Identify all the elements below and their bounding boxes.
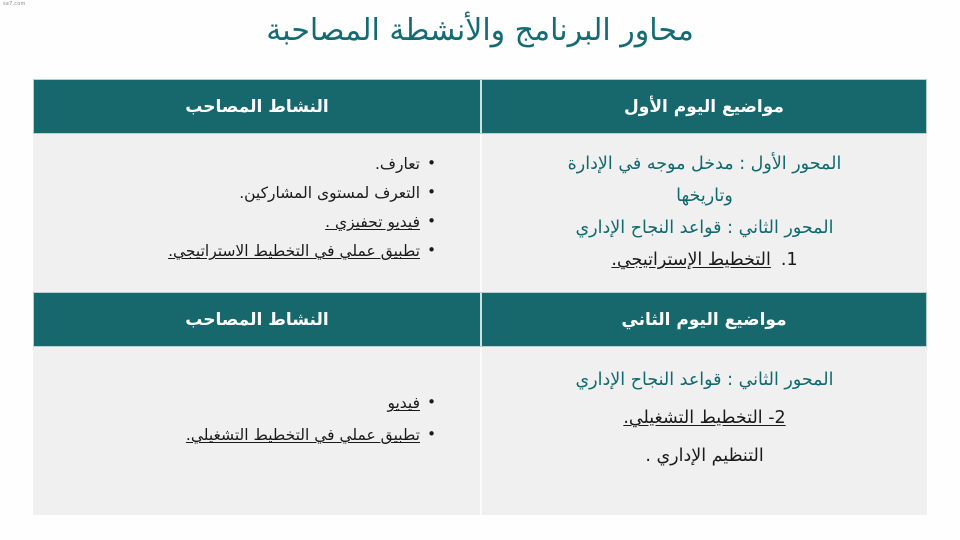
body-cell-topics-day-one: المحور الأول : مدخل موجه في الإدارة وتار… (480, 134, 927, 292)
activity-list-day-one: تعارف. التعرف لمستوى المشاركين. فيديو تح… (51, 148, 462, 266)
header-cell-activity-day-one: النشاط المصاحب (34, 80, 480, 133)
topic-line: 2- التخطيط التشغيلي. (500, 399, 909, 437)
topic-line: المحور الأول : مدخل موجه في الإدارة (500, 148, 909, 180)
activity-text: تطبيق عملي في التخطيط التشغيلي. (186, 419, 420, 451)
page-title: محاور البرنامج والأنشطة المصاحبة (0, 10, 960, 52)
table-day-two: مواضيع اليوم الثاني النشاط المصاحب المحو… (33, 292, 927, 515)
body-cell-activity-day-one: تعارف. التعرف لمستوى المشاركين. فيديو تح… (33, 134, 480, 292)
list-item: فيديو (51, 387, 436, 419)
table-body-row: المحور الأول : مدخل موجه في الإدارة وتار… (33, 134, 927, 292)
list-item: التعرف لمستوى المشاركين. (51, 179, 436, 208)
topic-line: المحور الثاني : قواعد النجاح الإداري (500, 212, 909, 244)
list-item: فيديو تحفيزي . (51, 208, 436, 237)
topic-line-numbered: 1.التخطيط الإستراتيجي. (500, 244, 909, 276)
topic-line: وتاريخها (500, 180, 909, 212)
header-cell-topics-day-one: مواضيع اليوم الأول (480, 80, 926, 133)
activity-text: فيديو تحفيزي . (325, 208, 420, 237)
header-cell-topics-day-two: مواضيع اليوم الثاني (480, 293, 926, 346)
topic-line-text: 2- التخطيط التشغيلي. (623, 408, 785, 428)
list-item: تعارف. (51, 150, 436, 179)
header-cell-activity-day-two: النشاط المصاحب (34, 293, 480, 346)
table-header-row: مواضيع اليوم الثاني النشاط المصاحب (33, 292, 927, 347)
list-item: تطبيق عملي في التخطيط الاستراتيجي. (51, 237, 436, 266)
topic-line-text: التخطيط الإستراتيجي. (611, 250, 770, 270)
body-cell-activity-day-two: فيديو تطبيق عملي في التخطيط التشغيلي. (33, 347, 480, 515)
activity-text: تطبيق عملي في التخطيط الاستراتيجي. (168, 237, 420, 266)
topic-line: المحور الثاني : قواعد النجاح الإداري (500, 361, 909, 399)
topic-number: 1. (781, 250, 798, 270)
activity-text: تعارف. (375, 150, 420, 179)
table-body-row: المحور الثاني : قواعد النجاح الإداري 2- … (33, 347, 927, 515)
body-cell-topics-day-two: المحور الثاني : قواعد النجاح الإداري 2- … (480, 347, 927, 515)
table-day-one: مواضيع اليوم الأول النشاط المصاحب المحور… (33, 79, 927, 292)
watermark-text: sa7.com (3, 1, 26, 7)
activity-text: التعرف لمستوى المشاركين. (239, 179, 420, 208)
activity-text: فيديو (387, 387, 420, 419)
table-header-row: مواضيع اليوم الأول النشاط المصاحب (33, 79, 927, 134)
activity-list-day-two: فيديو تطبيق عملي في التخطيط التشغيلي. (51, 361, 462, 451)
topic-line: التنظيم الإداري . (500, 437, 909, 475)
slide-canvas: sa7.com محاور البرنامج والأنشطة المصاحبة… (0, 0, 960, 540)
list-item: تطبيق عملي في التخطيط التشغيلي. (51, 419, 436, 451)
